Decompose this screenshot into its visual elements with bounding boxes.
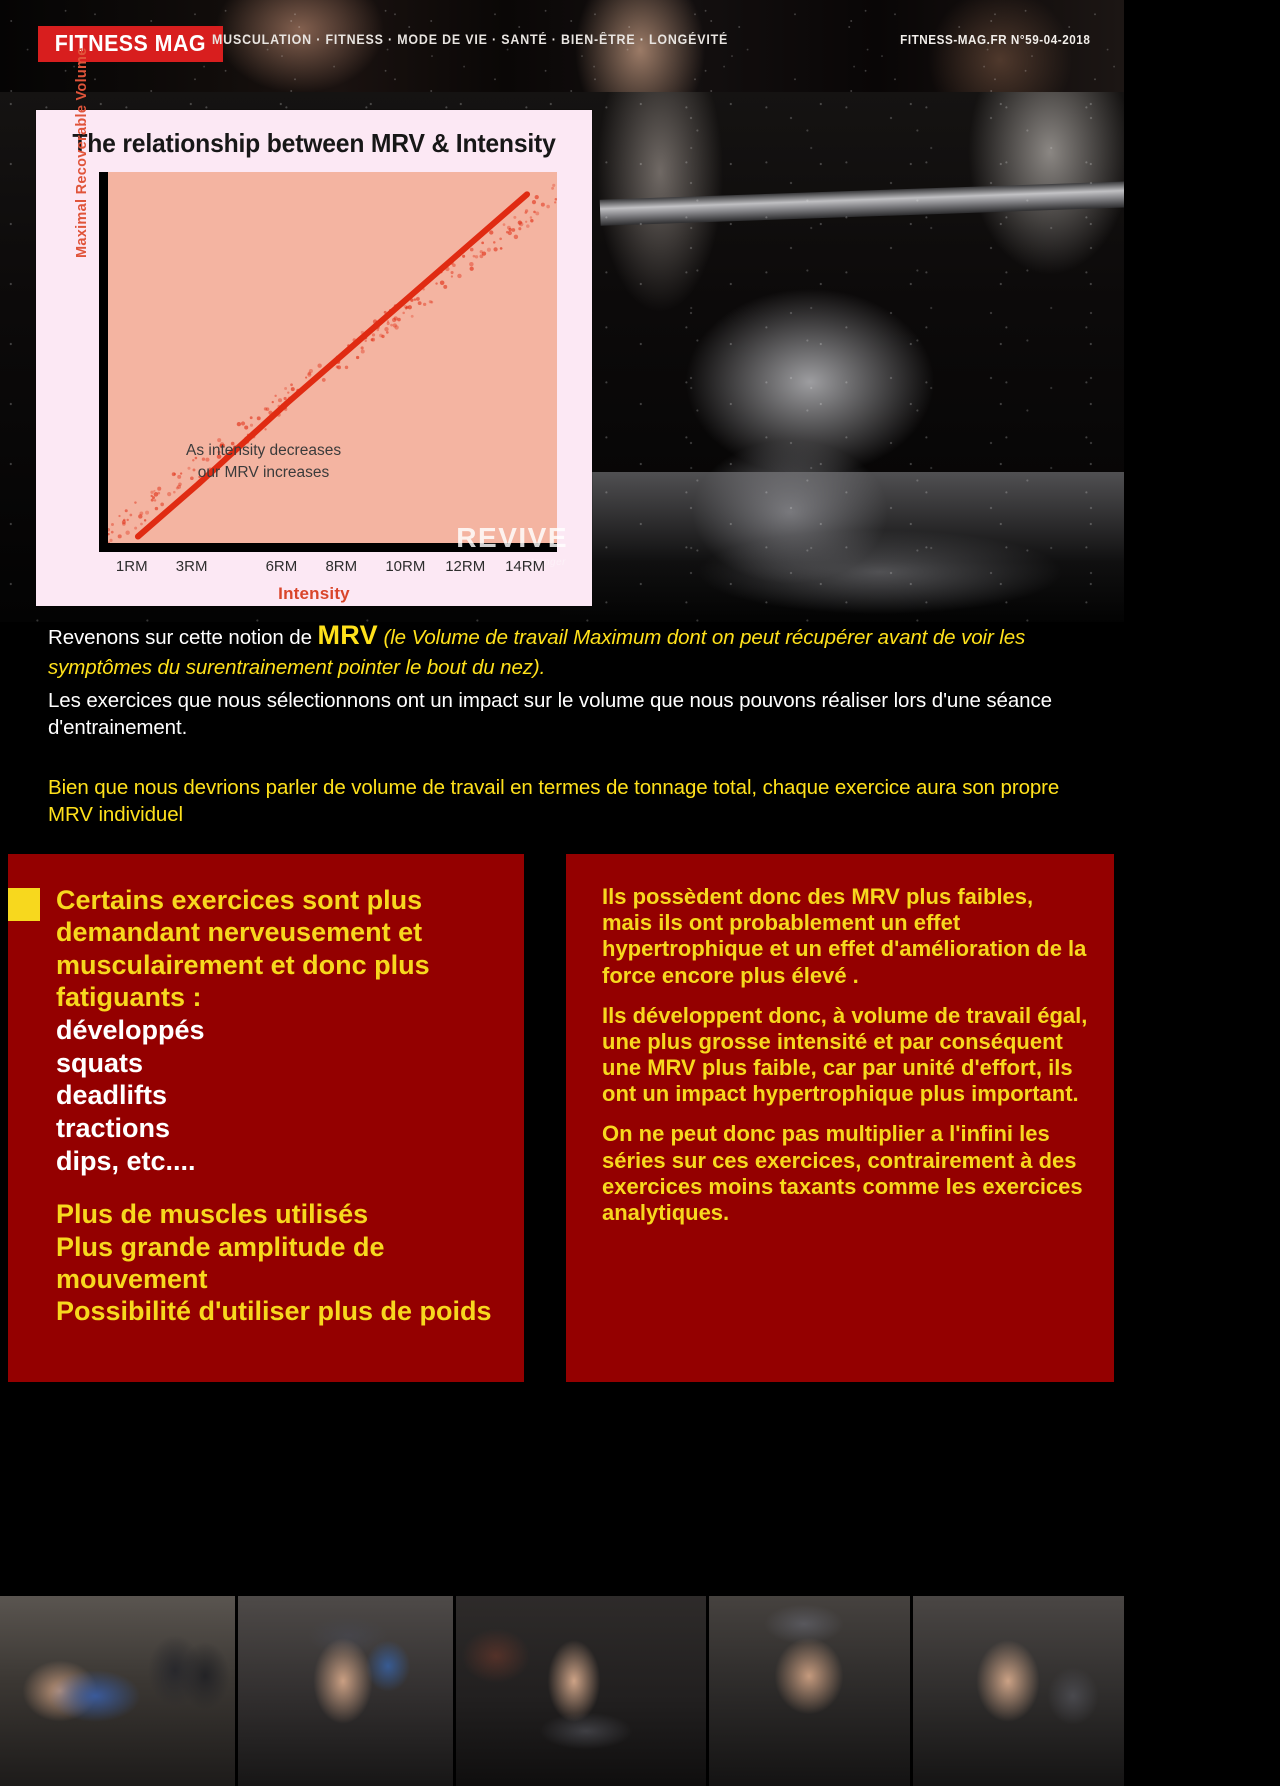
trend-scatter-point <box>264 428 266 430</box>
trend-scatter-point <box>108 533 110 535</box>
trend-scatter-point <box>109 539 112 542</box>
trend-scatter-point <box>530 219 533 222</box>
trend-scatter-point <box>126 519 128 521</box>
chart-annotation-line2: our MRV increases <box>186 462 341 484</box>
trend-scatter-point <box>554 201 556 203</box>
right-callout-content: Ils possèdent donc des MRV plus faibles,… <box>602 884 1088 1226</box>
trend-scatter-point <box>475 255 478 258</box>
chart-y-axis-label: Maximal Recoverable Volume <box>74 47 90 258</box>
trend-scatter-point <box>414 298 416 300</box>
chart-y-axis <box>99 172 108 552</box>
trend-scatter-point <box>381 335 384 338</box>
trend-scatter-point <box>423 303 426 306</box>
trend-scatter-point <box>244 426 248 430</box>
trend-scatter-point <box>284 397 287 400</box>
trend-scatter-point <box>499 237 502 240</box>
trend-scatter-point <box>546 205 550 209</box>
trend-scatter-point <box>153 490 155 492</box>
trend-scatter-point <box>511 228 515 232</box>
exercise-item: développés <box>56 1014 508 1047</box>
chart-x-tick: 12RM <box>445 558 485 575</box>
right-gap-2 <box>602 1107 1088 1121</box>
trend-scatter-point <box>157 487 161 491</box>
chart-x-tick: 1RM <box>116 558 148 575</box>
benefit-item: Plus grande amplitude de mouvement <box>56 1231 508 1296</box>
trend-scatter-point <box>305 376 307 378</box>
trend-scatter-point <box>386 331 389 334</box>
trend-scatter-point <box>108 528 110 531</box>
left-callout-heading: Certains exercices sont plus demandant n… <box>56 884 508 1014</box>
trend-scatter-point <box>451 275 453 277</box>
trend-scatter-point <box>154 499 157 502</box>
trend-scatter-point <box>257 416 261 420</box>
right-callout-paragraph-3: On ne peut donc pas multiplier a l'infin… <box>602 1121 1088 1226</box>
trend-scatter-point <box>418 301 422 305</box>
body-mrv-highlight: MRV <box>317 620 377 650</box>
trend-scatter-point <box>125 509 128 512</box>
trend-scatter-point <box>411 315 414 318</box>
trend-line-svg <box>108 172 557 544</box>
pull-up-photo <box>709 1596 910 1786</box>
trend-scatter-point <box>118 534 122 538</box>
trend-scatter-point <box>284 387 287 390</box>
trend-scatter-point <box>429 300 432 303</box>
trend-scatter-point <box>462 255 465 258</box>
trend-scatter-point <box>451 271 454 274</box>
chart-annotation-line1: As intensity decreases <box>186 440 341 462</box>
trend-scatter-point <box>519 222 523 226</box>
trend-scatter-point <box>290 383 293 386</box>
trend-scatter-point <box>250 416 253 419</box>
exercise-list: développéssquatsdeadliftstractionsdips, … <box>56 1014 508 1179</box>
trend-scatter-point <box>154 492 159 497</box>
trend-scatter-point <box>532 200 536 204</box>
mrv-intensity-chart-card: The relationship between MRV & Intensity… <box>36 110 592 606</box>
trend-scatter-point <box>250 424 253 427</box>
trend-scatter-point <box>111 531 114 534</box>
exercise-item: dips, etc.... <box>56 1145 508 1178</box>
right-callout-paragraph-1: Ils possèdent donc des MRV plus faibles,… <box>602 884 1088 989</box>
chart-x-tick: 6RM <box>266 558 298 575</box>
bench-press-photo <box>0 1596 235 1786</box>
trend-scatter-point <box>174 473 176 475</box>
trend-scatter-point <box>317 364 321 368</box>
left-callout-content: Certains exercices sont plus demandant n… <box>56 884 508 1328</box>
revive-watermark: REVIVE <box>456 522 568 554</box>
body-paragraph-3: Bien que nous devrions parler de volume … <box>48 774 1078 829</box>
right-callout-paragraph-2: Ils développent donc, à volume de travai… <box>602 1003 1088 1108</box>
trend-scatter-point <box>372 333 375 336</box>
deadlift-photo <box>456 1596 707 1786</box>
trend-scatter-point <box>152 496 155 499</box>
benefit-item: Possibilité d'utiliser plus de poids <box>56 1295 508 1327</box>
chart-plot-wrapper <box>99 172 557 552</box>
trend-scatter-point <box>356 356 359 359</box>
trend-scatter-point <box>308 372 311 375</box>
trend-scatter-point <box>535 195 539 199</box>
trend-scatter-point <box>241 421 245 425</box>
chart-x-tick: 8RM <box>325 558 357 575</box>
trend-scatter-point <box>457 274 461 278</box>
bottom-photo-strip <box>0 1596 1124 1786</box>
trend-scatter-point <box>274 395 276 397</box>
trend-scatter-point <box>287 391 289 393</box>
trend-scatter-point <box>180 472 182 474</box>
trend-scatter-point <box>150 491 153 494</box>
trend-scatter-point <box>384 327 388 331</box>
trend-scatter-point <box>493 241 496 244</box>
trend-scatter-point <box>167 492 171 496</box>
trend-scatter-point <box>530 216 533 219</box>
trend-scatter-point <box>144 519 146 521</box>
trend-scatter-point <box>552 184 555 187</box>
trend-line <box>138 194 527 536</box>
trend-scatter-point <box>177 475 181 479</box>
trend-scatter-point <box>493 247 497 251</box>
trend-scatter-point <box>322 378 326 382</box>
trend-scatter-point <box>129 514 132 517</box>
exercise-item: tractions <box>56 1112 508 1145</box>
trend-scatter-point <box>503 223 506 226</box>
trend-scatter-point <box>125 531 129 535</box>
trend-scatter-point <box>525 221 527 223</box>
trend-scatter-point <box>361 346 364 349</box>
trend-scatter-point <box>470 248 474 252</box>
trend-scatter-point <box>452 263 456 267</box>
trend-scatter-point <box>387 320 389 322</box>
trend-scatter-point <box>177 485 181 489</box>
trend-scatter-point <box>160 503 164 507</box>
benefit-list: Plus de muscles utilisésPlus grande ampl… <box>56 1198 508 1328</box>
biceps-curl-photo <box>913 1596 1124 1786</box>
trend-scatter-point <box>336 365 339 368</box>
trend-scatter-point <box>507 226 511 230</box>
trend-scatter-point <box>237 422 241 426</box>
trend-scatter-point <box>140 523 143 526</box>
trend-scatter-point <box>272 401 274 403</box>
body-paragraph-1: Revenons sur cette notion de MRV (le Vol… <box>48 618 1078 681</box>
trend-scatter-point <box>118 515 120 517</box>
right-callout-box: Ils possèdent donc des MRV plus faibles,… <box>566 854 1114 1382</box>
trend-scatter-point <box>402 312 405 315</box>
magazine-logo: FITNESS MAG <box>38 26 223 62</box>
barbell-squat-photo <box>238 1596 453 1786</box>
trend-scatter-point <box>155 507 158 510</box>
trend-scatter-point <box>480 250 483 253</box>
trend-scatter-point <box>361 350 365 354</box>
trend-scatter-point <box>470 267 474 271</box>
header-site-issue: FITNESS-MAG.FR N°59-04-2018 <box>900 32 1090 47</box>
trend-scatter-point <box>278 398 282 402</box>
trend-scatter-point <box>435 282 437 284</box>
trend-scatter-point <box>551 187 554 190</box>
trend-scatter-point <box>555 198 557 201</box>
trend-scatter-point <box>533 211 536 214</box>
left-callout-box: Certains exercices sont plus demandant n… <box>8 854 524 1382</box>
article-body: Revenons sur cette notion de MRV (le Vol… <box>48 618 1078 834</box>
trend-scatter-point <box>345 366 348 369</box>
benefit-item: Plus de muscles utilisés <box>56 1198 508 1230</box>
magazine-header: FITNESS MAG MUSCULATION · FITNESS · MODE… <box>0 0 1124 92</box>
trend-scatter-point <box>364 340 366 342</box>
trend-scatter-point <box>134 501 136 503</box>
trend-scatter-point <box>173 491 176 494</box>
trend-scatter-point <box>394 316 398 320</box>
trend-scatter-point <box>469 262 473 266</box>
trend-scatter-point <box>500 247 503 250</box>
chart-title: The relationship between MRV & Intensity <box>50 128 578 159</box>
trend-scatter-point <box>541 203 545 207</box>
trend-scatter-point <box>513 216 516 219</box>
trend-scatter-point <box>481 242 484 245</box>
chart-x-axis-label: Intensity <box>36 584 592 604</box>
trend-scatter-point <box>371 338 375 342</box>
trend-scatter-point <box>393 323 397 327</box>
trend-scatter-point <box>489 230 493 234</box>
body-paragraph-2: Les exercices que nous sélectionnons ont… <box>48 687 1078 742</box>
trend-scatter-point <box>535 212 539 216</box>
header-tagline: MUSCULATION · FITNESS · MODE DE VIE · SA… <box>212 32 728 47</box>
trend-scatter-point <box>440 280 445 285</box>
trend-scatter-point <box>390 324 393 327</box>
body-spacer <box>48 748 1078 774</box>
exercise-item: squats <box>56 1047 508 1080</box>
trend-scatter-point <box>416 297 420 301</box>
trend-scatter-point <box>443 285 447 289</box>
chart-x-tick: 10RM <box>385 558 425 575</box>
exercise-item: deadlifts <box>56 1079 508 1112</box>
trend-scatter-point <box>264 407 267 410</box>
trend-scatter-point <box>514 235 518 239</box>
trend-scatter-point <box>139 511 143 515</box>
trend-scatter-point <box>405 307 408 310</box>
trend-scatter-point <box>111 523 114 526</box>
chart-x-tick: 14RM <box>505 558 545 575</box>
trend-scatter-point <box>487 248 491 252</box>
trend-scatter-point <box>291 387 295 391</box>
trend-scatter-point <box>526 224 530 228</box>
chart-x-tick: 3RM <box>176 558 208 575</box>
trend-scatter-point <box>134 527 137 530</box>
chart-annotation: As intensity decreases our MRV increases <box>186 440 341 484</box>
trend-scatter-point <box>506 231 509 234</box>
trend-scatter-point <box>122 520 126 524</box>
right-gap-1 <box>602 989 1088 1003</box>
trend-scatter-point <box>145 511 149 515</box>
left-callout-gap <box>56 1178 508 1198</box>
trend-scatter-point <box>518 227 521 230</box>
body-p1-lead: Revenons sur cette notion de <box>48 626 317 649</box>
chart-trend-line-layer <box>108 172 557 544</box>
yellow-square-bullet-icon <box>8 888 40 921</box>
trend-scatter-point <box>524 211 527 214</box>
